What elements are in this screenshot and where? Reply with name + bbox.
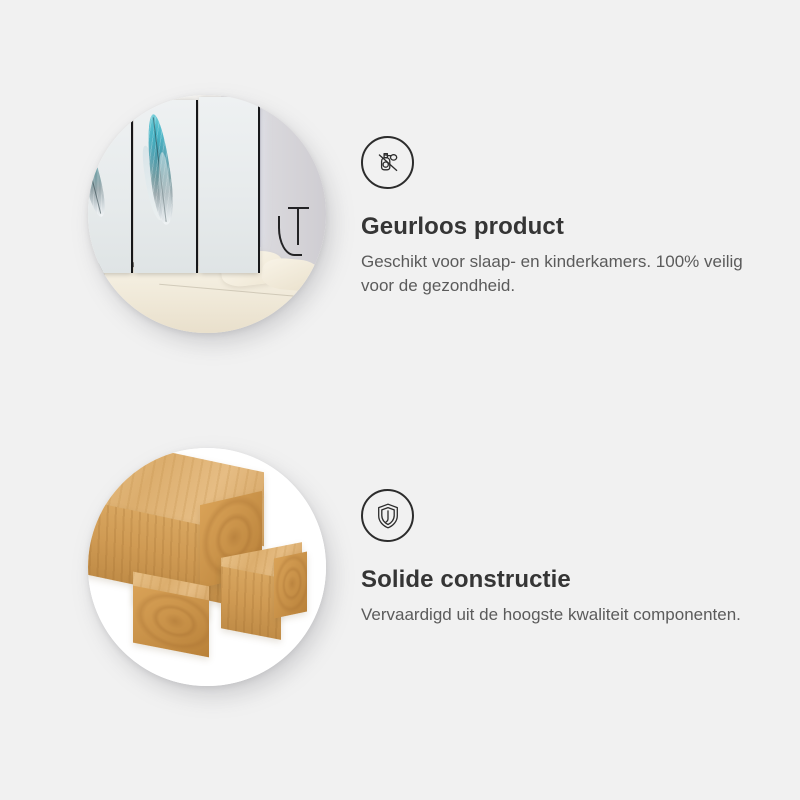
canvas-panel: [134, 100, 196, 274]
bedroom-scene: [88, 95, 326, 333]
feature-block-solide-constructie: Solide constructie Vervaardigd uit de ho…: [0, 448, 800, 693]
feathers-triptych-bedroom-photo: [88, 95, 326, 333]
feature-description: Vervaardigd uit de hoogste kwaliteit com…: [361, 603, 751, 628]
feature-block-geurloos-product: Geurloos product Geschikt voor slaap- en…: [0, 95, 800, 340]
canvas-panel: [199, 97, 259, 273]
feather-graphic: [88, 120, 109, 218]
canvas-panel: [88, 100, 131, 274]
shield-glyph: [372, 500, 404, 532]
feature-text-column: Solide constructie Vervaardigd uit de ho…: [361, 448, 761, 627]
wood-scene: [88, 448, 326, 686]
shield-icon: [361, 489, 414, 542]
page-title: Solide constructie: [361, 566, 761, 595]
feature-description: Geschikt voor slaap- en kinderkamers. 10…: [361, 250, 751, 299]
feature-image-wrapper: [88, 448, 326, 686]
wood-block: [221, 566, 281, 639]
wood-block-end-grain: [274, 552, 307, 619]
feature-highlights-page: Geurloos product Geschikt voor slaap- en…: [0, 0, 800, 800]
no-fragrance-glyph: [371, 146, 405, 180]
page-title: Geurloos product: [361, 213, 761, 242]
wooden-blocks-photo: [88, 448, 326, 686]
no-fragrance-icon: [361, 136, 414, 189]
feature-text-column: Geurloos product Geschikt voor slaap- en…: [361, 95, 761, 299]
feature-image-wrapper: [88, 95, 326, 333]
